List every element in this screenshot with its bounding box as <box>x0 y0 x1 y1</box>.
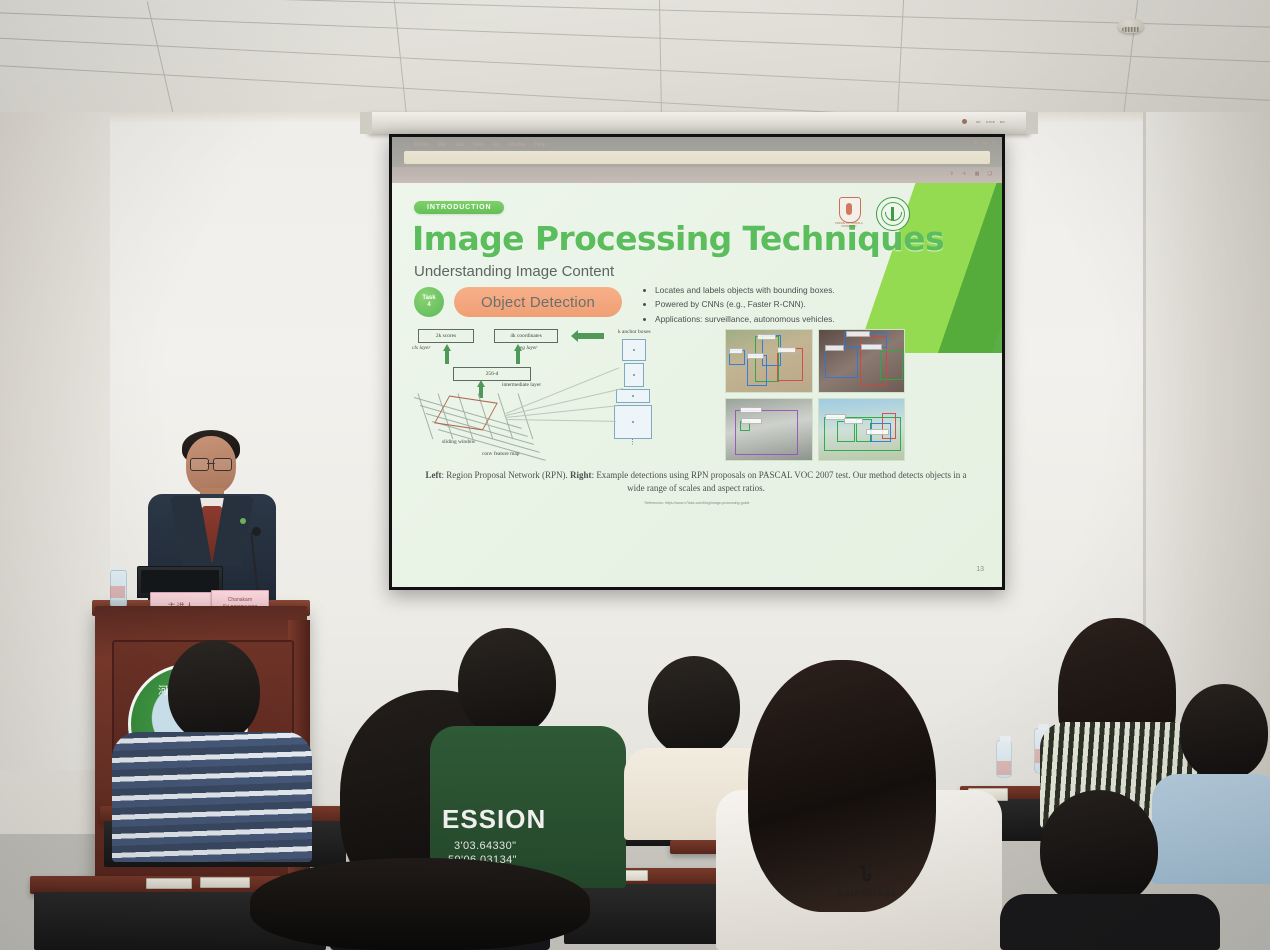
audience-front-silhouette-left <box>250 858 590 950</box>
head <box>1040 790 1158 908</box>
housing-end-left <box>360 112 372 134</box>
rpn-diagram: 2k scores 4k coordinates cls layer reg l… <box>410 329 720 459</box>
menu-view[interactable]: View <box>473 142 484 148</box>
diagram-label-cls-layer: cls layer <box>412 345 430 351</box>
detection-example-street <box>818 398 906 462</box>
topic-pill: Object Detection <box>454 287 622 317</box>
audience-striped-polo <box>110 640 315 860</box>
hoodie-coordinate-1: 3'03.64330" <box>454 840 516 852</box>
balenciaga-logo-icon <box>856 864 876 884</box>
bullet-3: Applications: surveillance, autonomous v… <box>655 312 944 326</box>
hair <box>250 858 590 950</box>
slide-reference: References: https://www.v7labs.com/blog/… <box>392 501 1002 505</box>
tabs-icon[interactable]: ❏ <box>988 171 992 177</box>
menubar-status-items[interactable]: ≋ ▭ ◷ <box>974 140 996 146</box>
head <box>1180 684 1268 780</box>
caption-left-text: : Region Proposal Network (RPN). <box>442 470 571 480</box>
browser-url-bar[interactable] <box>404 151 990 164</box>
projection-screen-surface: Finder File Edit View Go Window Help ≋ ▭… <box>392 137 1002 587</box>
diagram-label-anchor-boxes: k anchor boxes <box>618 329 651 335</box>
battery-icon[interactable]: ▭ <box>983 140 987 146</box>
slide-page-number: 13 <box>976 566 984 573</box>
smoke-detector-icon <box>1118 18 1144 33</box>
menu-window[interactable]: Window <box>508 142 526 148</box>
torso <box>112 732 312 862</box>
head <box>168 640 260 742</box>
screen-control-stop[interactable]: STOP <box>986 120 995 124</box>
eyeglasses-icon <box>190 458 232 469</box>
university-crest-logo: PRINCE OF SONGKLAUNIVERSITY <box>836 197 862 231</box>
presentation-slide: INTRODUCTION Image Processing Techniques… <box>392 183 1002 587</box>
bench-plate <box>146 878 192 889</box>
detection-example-horse-person <box>725 329 813 393</box>
diagram-label-conv-feature-map: conv feature map <box>482 451 519 457</box>
slide-subtitle: Understanding Image Content <box>414 263 614 280</box>
diagram-label-intermediate: intermediate layer <box>502 382 541 388</box>
caption-right-bold: Right <box>570 470 592 480</box>
menu-help[interactable]: Help <box>535 142 545 148</box>
share-icon[interactable]: ⇪ <box>950 171 954 177</box>
slide-bullets: Locates and labels objects with bounding… <box>644 283 944 326</box>
hoodie-text: ESSION <box>442 804 546 835</box>
task-badge-label: Task <box>422 295 435 302</box>
screen-control-up[interactable]: UP <box>976 120 981 124</box>
diagram-box-256d: 256-d <box>453 367 531 381</box>
podium-bottle-label <box>110 586 125 598</box>
audience-dark-right <box>1000 790 1220 950</box>
diagram-box-4k-coordinates: 4k coordinates <box>494 329 558 343</box>
slide-kicker: INTRODUCTION <box>414 201 504 214</box>
head <box>458 628 556 736</box>
slide-caption: Left: Region Proposal Network (RPN). Rig… <box>422 469 970 495</box>
torso <box>1000 894 1220 950</box>
anchor-box-3 <box>616 389 650 403</box>
diagram-label-sliding-window: sliding window <box>442 439 475 445</box>
ceiling <box>0 0 1270 118</box>
menu-file[interactable]: File <box>438 142 446 148</box>
task-badge: Task 4 <box>414 287 444 317</box>
desktop-chrome: Finder File Edit View Go Window Help ≋ ▭… <box>392 137 1002 183</box>
browser-toolbar-icons[interactable]: ⇪ ＋ ▦ ❏ <box>950 170 992 177</box>
lapel-pin-icon <box>240 518 246 524</box>
diagram-box-2k-scores: 2k scores <box>418 329 474 343</box>
anchor-box-4 <box>614 405 652 439</box>
caption-left-bold: Left <box>426 470 442 480</box>
plus-icon[interactable]: ＋ <box>962 170 967 177</box>
browser-toolbar <box>392 167 1002 183</box>
shirt-brand-text: balenciaga <box>838 888 898 898</box>
diagram-left-arrow-icon <box>578 333 604 339</box>
audience-green-hoodie: ESSION 3'03.64330" 59'06.03134" <box>430 628 630 888</box>
macos-menubar[interactable]: Finder File Edit View Go Window Help <box>406 140 996 149</box>
menu-edit[interactable]: Edit <box>455 142 464 148</box>
left-wall <box>0 112 110 832</box>
anchor-box-2 <box>624 363 644 387</box>
menu-finder[interactable]: Finder <box>415 142 429 148</box>
audience-balenciaga: balenciaga <box>706 660 1006 950</box>
microphone-icon <box>252 527 261 536</box>
grid-icon[interactable]: ▦ <box>975 171 980 177</box>
projector-screen-housing <box>368 112 1030 134</box>
institution-logos: PRINCE OF SONGKLAUNIVERSITY <box>836 197 910 231</box>
housing-end-right <box>1026 112 1038 134</box>
university-seal-logo <box>876 197 910 231</box>
detection-example-indoor <box>818 329 906 393</box>
task-badge-number: 4 <box>427 302 430 309</box>
lecture-hall-scene: UP STOP DN Finder File Edit View Go Wind… <box>0 0 1270 950</box>
clock-icon[interactable]: ◷ <box>992 140 996 146</box>
diagram-conv-feature-map <box>414 391 554 453</box>
anchor-box-1 <box>622 339 646 361</box>
hair <box>748 660 936 912</box>
caption-right-text: : Example detections using RPN proposals… <box>592 470 967 493</box>
menu-go[interactable]: Go <box>493 142 500 148</box>
bullet-2: Powered by CNNs (e.g., Faster R-CNN). <box>655 297 944 311</box>
wifi-icon[interactable]: ≋ <box>974 140 978 146</box>
detection-examples <box>725 329 905 461</box>
bench-plate <box>200 877 250 888</box>
detection-example-bus <box>725 398 813 462</box>
screen-control-down[interactable]: DN <box>1000 120 1005 124</box>
bullet-1: Locates and labels objects with bounding… <box>655 283 944 297</box>
screen-control-indicator <box>962 119 967 124</box>
